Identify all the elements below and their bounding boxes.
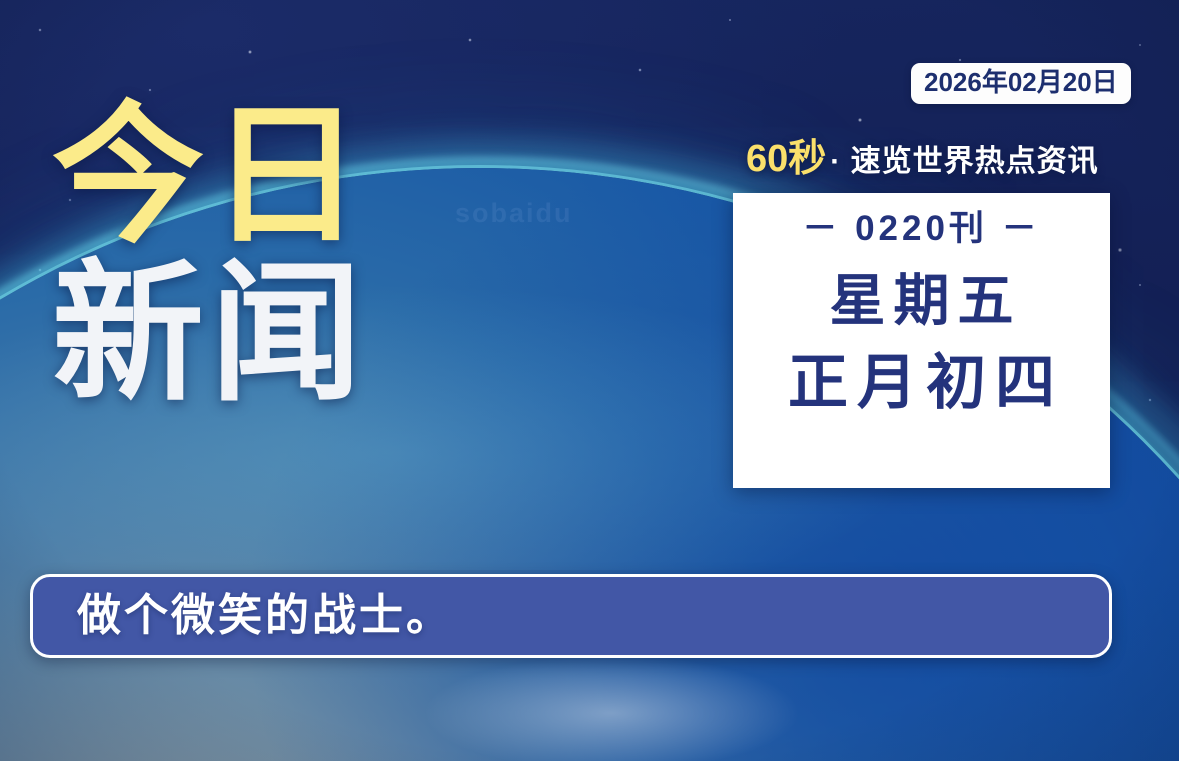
tagline-description: · 速览世界热点资讯 [830,145,1098,178]
headline-line-today: 今日 [52,104,368,248]
tagline: 60秒· 速览世界热点资讯 [746,140,1099,178]
issue-info-card: － 0220刊 － 星期五 正月初四 [733,193,1110,488]
lunar-date-label: 正月初四 [779,349,1064,416]
news-poster: sobaidu 今日 新闻 2026年02月20日 60秒· 速览世界热点资讯 … [0,0,1179,761]
poster-headline: 今日 新闻 [52,104,368,407]
issue-number: － 0220刊 － [802,208,1040,250]
tagline-seconds: 60秒 [746,138,826,180]
date-badge: 2026年02月20日 [911,63,1131,104]
weekday-label: 星期五 [822,270,1022,333]
watermark-text: sobaidu [455,198,573,229]
headline-line-news: 新闻 [52,262,368,406]
quote-bar: 做个微笑的战士。 [30,574,1112,658]
quote-text: 做个微笑的战士。 [77,594,453,638]
